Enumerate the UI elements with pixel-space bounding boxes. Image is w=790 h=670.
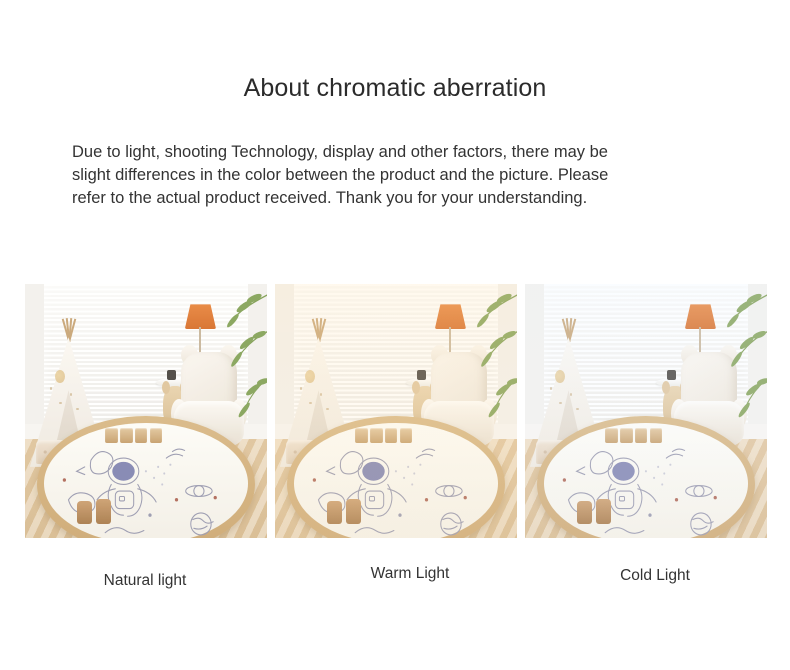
caption-warm-light: Warm Light (310, 565, 510, 583)
mat-surface (544, 423, 748, 538)
toy-block (105, 428, 118, 444)
wooden-bear-toy (327, 501, 342, 524)
caption-cold-light: Cold Light (565, 567, 745, 585)
toy-block (120, 428, 133, 444)
playroom-photo-warm (275, 284, 517, 538)
panel-cold-light (525, 284, 767, 538)
wooden-bear-toy (596, 499, 611, 524)
toy-block (605, 428, 618, 444)
playroom-photo-cold (525, 284, 767, 538)
caption-natural-light: Natural light (0, 572, 290, 590)
paragraph-line-2: slight differences in the color between … (72, 164, 722, 187)
mat-surface (44, 423, 248, 538)
panel-natural-light (25, 284, 267, 538)
page-title: About chromatic aberration (0, 74, 790, 103)
product-chromatic-aberration-notice: About chromatic aberration Due to light,… (0, 0, 790, 670)
star-decal-icon (300, 387, 302, 389)
toy-blocks-row (355, 428, 412, 444)
panel-warm-light (275, 284, 517, 538)
round-play-mat (287, 416, 505, 538)
toy-block (635, 428, 648, 444)
toy-block (135, 428, 148, 444)
toy-block (370, 428, 383, 444)
wooden-bear-toys (327, 498, 364, 525)
mat-surface (294, 423, 498, 538)
wooden-bear-toy (346, 499, 361, 524)
toy-block (385, 428, 398, 444)
star-decal-icon (550, 387, 552, 389)
toy-blocks-row (605, 428, 662, 444)
toy-block (355, 428, 368, 444)
toy-block (650, 428, 663, 444)
comparison-image-row (25, 284, 767, 538)
toy-block (620, 428, 633, 444)
star-decal-icon (50, 387, 52, 389)
round-play-mat (537, 416, 755, 538)
toy-blocks-row (105, 428, 162, 444)
wooden-bear-toy (96, 499, 111, 524)
wooden-bear-toys (577, 498, 614, 525)
wooden-bear-toy (577, 501, 592, 524)
paragraph-line-1: Due to light, shooting Technology, displ… (72, 141, 722, 164)
disclaimer-paragraph: Due to light, shooting Technology, displ… (72, 141, 722, 210)
playroom-photo-natural (25, 284, 267, 538)
toy-block (400, 428, 413, 444)
wooden-bear-toy (77, 501, 92, 524)
paragraph-line-3: refer to the actual product received. Th… (72, 187, 722, 210)
toy-block (150, 428, 163, 444)
round-play-mat (37, 416, 255, 538)
wooden-bear-toys (77, 498, 114, 525)
